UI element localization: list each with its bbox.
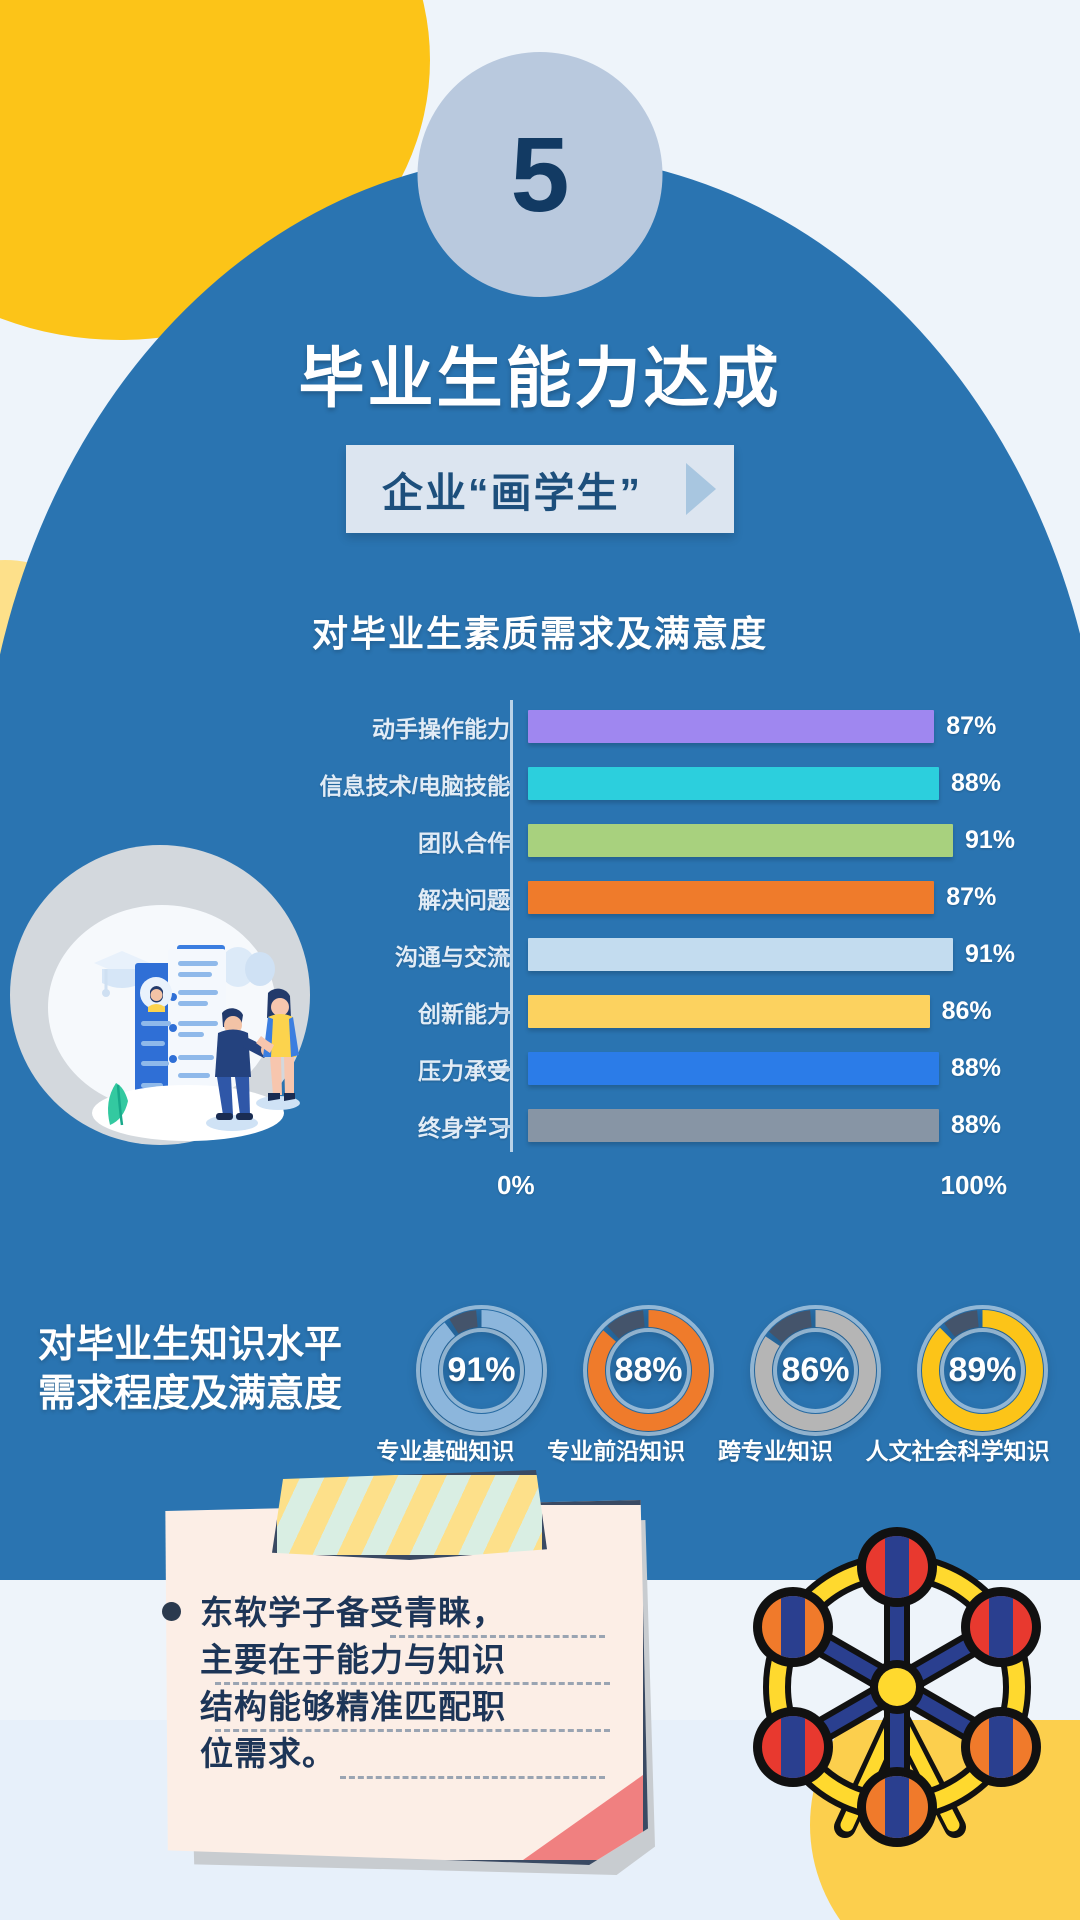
note-line-4: 位需求。 [200, 1731, 610, 1778]
donut-value-label: 89% [910, 1298, 1055, 1443]
axis-tick [495, 1011, 510, 1014]
donut-chart: 91% [409, 1298, 554, 1443]
subtitle-text: 企业“画学生” [382, 459, 642, 519]
bar-chart-axis-labels: 0% 100% [510, 1156, 995, 1208]
bar-track: 91% [528, 928, 995, 981]
note-line-1: 东软学子备受青睐， [200, 1590, 610, 1637]
note-dash-1 [390, 1635, 605, 1638]
bar-track: 88% [528, 1042, 995, 1095]
bar-fill [528, 1052, 939, 1085]
ferris-wheel-artwork [725, 1515, 1070, 1860]
donut-list: 91%88%86%89% [398, 1298, 1080, 1443]
bar-category-label: 终身学习 [295, 1109, 528, 1143]
bar-track: 91% [528, 814, 995, 867]
bar-track: 88% [528, 757, 995, 810]
donut-caption: 专业前沿知识 [547, 1432, 685, 1466]
bar-track: 88% [528, 1099, 995, 1152]
note-dash-3 [215, 1729, 610, 1732]
bar-row: 沟通与交流91% [295, 928, 995, 981]
axis-label-max: 100% [941, 1170, 1008, 1201]
bar-fill [528, 938, 953, 971]
axis-tick [495, 1125, 510, 1128]
donut-chart: 89% [910, 1298, 1055, 1443]
note-line-2: 主要在于能力与知识 [200, 1637, 610, 1684]
donut-caption: 跨专业知识 [718, 1432, 833, 1466]
bar-track: 87% [528, 700, 995, 753]
bar-category-label: 动手操作能力 [295, 710, 528, 744]
donut-value-label: 91% [409, 1298, 554, 1443]
bar-category-label: 团队合作 [295, 824, 528, 858]
bar-value-label: 87% [946, 883, 996, 912]
donut-heading-line1: 对毕业生知识水平 [38, 1321, 398, 1370]
bar-fill [528, 1109, 939, 1142]
illustration-artwork [10, 845, 310, 1145]
ferris-wheel-illustration [725, 1515, 1070, 1860]
subtitle-box: 企业“画学生” [346, 445, 668, 533]
bar-row: 解决问题87% [295, 871, 995, 924]
bar-chart-axis [510, 700, 513, 1152]
donut-caption-list: 专业基础知识专业前沿知识跨专业知识人文社会科学知识 [360, 1432, 1066, 1466]
bar-value-label: 86% [942, 997, 992, 1026]
axis-label-min: 0% [497, 1170, 535, 1201]
donut-chart: 88% [576, 1298, 721, 1443]
bar-value-label: 88% [951, 769, 1001, 798]
note-dash-4 [340, 1776, 605, 1779]
infographic-canvas: 5 毕业生能力达成 企业“画学生” 对毕业生素质需求及满意度 [0, 0, 1080, 1920]
subtitle-banner: 企业“画学生” [346, 445, 734, 533]
donut-value-label: 86% [743, 1298, 888, 1443]
note-dash-2 [215, 1682, 610, 1685]
donut-caption: 专业基础知识 [376, 1432, 514, 1466]
bar-fill [528, 881, 934, 914]
note-line-3: 结构能够精准匹配职 [200, 1684, 610, 1731]
bar-value-label: 91% [965, 940, 1015, 969]
bar-track: 86% [528, 985, 995, 1038]
axis-tick [495, 1068, 510, 1071]
note-bullet-icon [162, 1602, 181, 1621]
bar-category-label: 创新能力 [295, 995, 528, 1029]
bar-category-label: 压力承受 [295, 1052, 528, 1086]
section-number: 5 [511, 122, 570, 228]
handshake-illustration [10, 845, 310, 1145]
bar-value-label: 88% [951, 1054, 1001, 1083]
axis-tick [495, 840, 510, 843]
bar-fill [528, 710, 934, 743]
axis-tick [495, 783, 510, 786]
bar-row: 终身学习88% [295, 1099, 995, 1152]
bar-category-label: 沟通与交流 [295, 938, 528, 972]
page-title: 毕业生能力达成 [0, 325, 1080, 421]
section-number-badge: 5 [418, 52, 663, 297]
bar-chart-plot: 动手操作能力87%信息技术/电脑技能88%团队合作91%解决问题87%沟通与交流… [295, 700, 995, 1152]
bar-category-label: 解决问题 [295, 881, 528, 915]
bar-value-label: 88% [951, 1111, 1001, 1140]
bar-row: 动手操作能力87% [295, 700, 995, 753]
bar-fill [528, 995, 930, 1028]
donut-chart: 86% [743, 1298, 888, 1443]
bar-row: 团队合作91% [295, 814, 995, 867]
donut-chart-heading: 对毕业生知识水平 需求程度及满意度 [0, 1321, 398, 1418]
washi-tape-icon [272, 1470, 547, 1560]
bar-category-label: 信息技术/电脑技能 [295, 767, 528, 801]
axis-tick [495, 954, 510, 957]
bar-fill [528, 767, 939, 800]
bar-chart-heading: 对毕业生素质需求及满意度 [0, 605, 1080, 657]
donut-caption: 人文社会科学知识 [866, 1432, 1050, 1466]
bar-row: 创新能力86% [295, 985, 995, 1038]
bar-value-label: 91% [965, 826, 1015, 855]
bar-list: 动手操作能力87%信息技术/电脑技能88%团队合作91%解决问题87%沟通与交流… [295, 700, 995, 1152]
bar-row: 信息技术/电脑技能88% [295, 757, 995, 810]
chevron-shape [686, 463, 716, 515]
axis-tick [495, 897, 510, 900]
donut-heading-line2: 需求程度及满意度 [38, 1370, 398, 1419]
bar-fill [528, 824, 953, 857]
donut-value-label: 88% [576, 1298, 721, 1443]
bar-chart: 动手操作能力87%信息技术/电脑技能88%团队合作91%解决问题87%沟通与交流… [295, 700, 995, 1208]
bar-track: 87% [528, 871, 995, 924]
bar-value-label: 87% [946, 712, 996, 741]
chevron-right-icon [668, 445, 734, 533]
bar-row: 压力承受88% [295, 1042, 995, 1095]
